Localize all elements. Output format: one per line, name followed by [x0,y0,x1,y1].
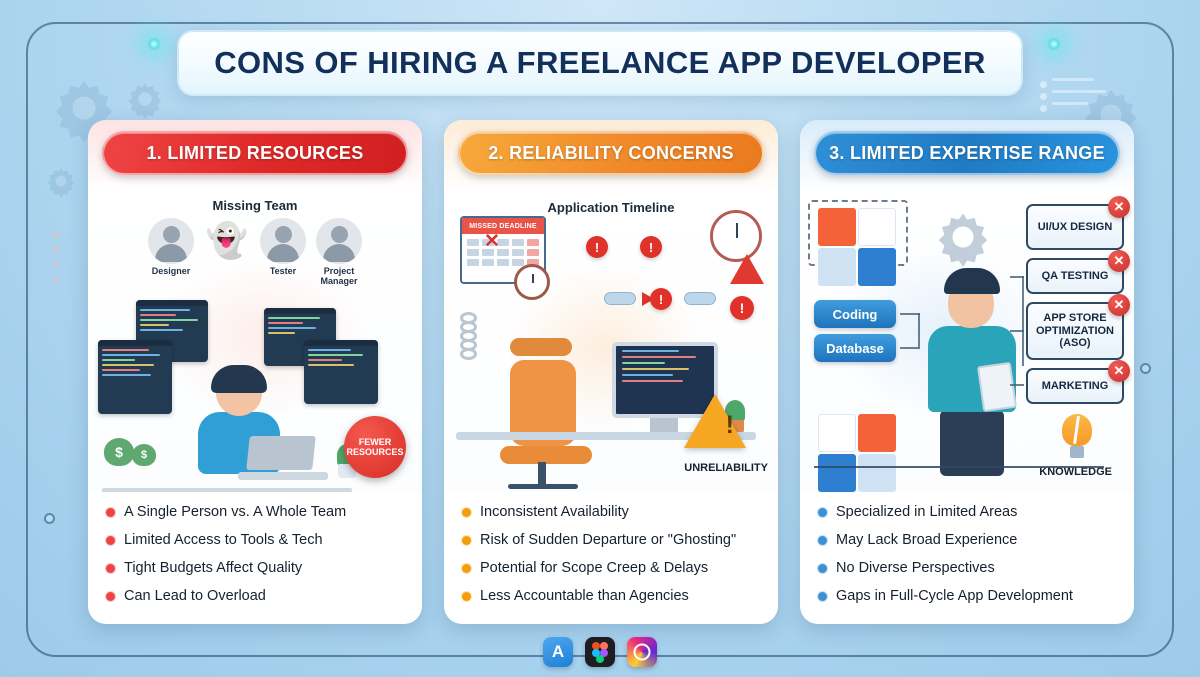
connector-line [1010,330,1024,332]
close-icon: ✕ [1108,250,1130,272]
puzzle-pieces-icon [818,414,896,492]
user-avatar-icon [148,218,194,264]
list-item: Inconsistent Availability [462,498,762,526]
baseline-rule [814,466,1104,468]
bullet-dot [818,564,827,573]
connector-line [1022,276,1024,366]
close-icon: ✕ [1108,294,1130,316]
code-window-icon [304,340,378,404]
card-2-bullet-list: Inconsistent Availability Risk of Sudden… [444,492,778,624]
empty-chair-illustration [492,338,596,488]
list-item: Limited Access to Tools & Tech [106,526,406,554]
gear-icon [44,164,78,198]
money-bag-icon: $ [104,438,134,466]
laptop-icon [238,440,324,480]
puzzle-pieces-icon [818,208,896,286]
bullet-dot [818,592,827,601]
close-icon: ✕ [1108,196,1130,218]
bullet-dot [106,508,115,517]
bullet-dot [462,508,471,517]
glow-dot-right [1046,36,1062,52]
card-2-header: 2. RELIABILITY CONCERNS [444,120,778,192]
bullet-dot [818,536,827,545]
connector-line [1010,276,1024,278]
user-avatar-icon [260,218,306,264]
exclamation-icon: ! [586,236,608,258]
card-1-illustration: Missing Team Designer 👻 Tester Project M… [88,192,422,492]
page-title-bar: CONS OF HIRING A FREELANCE APP DEVELOPER [177,30,1023,96]
gear-icon [932,206,994,268]
card-3-bullet-list: Specialized in Limited Areas May Lack Br… [800,492,1134,624]
timeline-node [604,292,636,305]
bullet-dot [106,592,115,601]
unreliability-label: UNRELIABILITY [684,462,768,474]
avatar-project-manager: Project Manager [316,218,362,287]
footer-app-icons: A [0,637,1200,667]
figma-icon[interactable] [585,637,615,667]
list-item: Gaps in Full-Cycle App Development [818,582,1118,610]
card-reliability-concerns: 2. RELIABILITY CONCERNS Application Time… [444,120,778,624]
corner-marker-left [44,513,55,524]
connector-line [1010,384,1024,386]
bullet-dot [462,592,471,601]
exclamation-icon: ! [640,236,662,258]
timeline-node [684,292,716,305]
bullet-dot [462,564,471,573]
broken-lightbulb-icon [1060,414,1094,458]
decorative-connector-lines [1040,78,1106,114]
desk-illustration [102,488,352,492]
list-item: Risk of Sudden Departure or "Ghosting" [462,526,762,554]
code-window-icon [98,340,172,414]
chain-icon [460,312,490,392]
avatar-missing: 👻 [204,218,250,287]
monitor-stand [650,418,678,432]
page-title: CONS OF HIRING A FREELANCE APP DEVELOPER [214,45,986,81]
avatar-tester: Tester [260,218,306,287]
list-item: A Single Person vs. A Whole Team [106,498,406,526]
developer-illustration [918,268,1030,478]
connector-line [900,313,920,315]
exclamation-icon: ! [730,296,754,320]
list-item: Potential for Scope Creep & Delays [462,554,762,582]
missing-team-avatars: Designer 👻 Tester Project Manager [88,218,422,287]
exclamation-icon: ! [650,288,672,310]
list-item: Can Lead to Overload [106,582,406,610]
fewer-resources-badge: FEWER RESOURCES [344,416,406,478]
list-item: No Diverse Perspectives [818,554,1118,582]
gear-icon [124,78,166,120]
avatar-designer: Designer [148,218,194,287]
close-icon: ✕ [1108,360,1130,382]
card-2-illustration: Application Timeline MISSED DEADLINE ✕ !… [444,192,778,492]
tablet-icon [977,362,1017,412]
bullet-dot [462,536,471,545]
app-store-icon[interactable]: A [543,637,573,667]
card-1-title: 1. LIMITED RESOURCES [102,131,408,175]
clock-icon [514,264,550,300]
card-2-title: 2. RELIABILITY CONCERNS [458,131,764,175]
card-3-title: 3. LIMITED EXPERTISE RANGE [814,131,1120,175]
list-item: Less Accountable than Agencies [462,582,762,610]
warning-exclamation: ! [726,411,734,440]
user-avatar-icon [316,218,362,264]
corner-marker-right [1140,363,1151,374]
cross-mark-icon: ✕ [484,230,500,253]
list-item: Tight Budgets Affect Quality [106,554,406,582]
cards-container: 1. LIMITED RESOURCES Missing Team Design… [88,120,1134,624]
list-item: Specialized in Limited Areas [818,498,1118,526]
card-1-header: 1. LIMITED RESOURCES [88,120,422,192]
warning-triangle-icon [684,394,746,448]
bullet-dot [106,536,115,545]
glow-dot-left [146,36,162,52]
money-bag-icon: $ [132,444,156,466]
decorative-dot-column [54,232,59,282]
card-3-header: 3. LIMITED EXPERTISE RANGE [800,120,1134,192]
warning-triangle-icon [730,254,764,284]
card-limited-expertise-range: 3. LIMITED EXPERTISE RANGE Coding Databa… [800,120,1134,624]
card-1-bullet-list: A Single Person vs. A Whole Team Limited… [88,492,422,624]
skill-tag-coding: Coding [814,300,896,328]
missed-deadline-label: MISSED DEADLINE [462,218,544,234]
connector-line [900,347,920,349]
ghost-icon: 👻 [204,218,250,264]
card-limited-resources: 1. LIMITED RESOURCES Missing Team Design… [88,120,422,624]
card-3-illustration: Coding Database UI/UX DESIGN ✕ QA TESTIN… [800,192,1134,492]
skill-tag-database: Database [814,334,896,362]
list-item: May Lack Broad Experience [818,526,1118,554]
instagram-icon[interactable] [627,637,657,667]
bullet-dot [818,508,827,517]
missing-team-caption: Missing Team [88,198,422,213]
bullet-dot [106,564,115,573]
